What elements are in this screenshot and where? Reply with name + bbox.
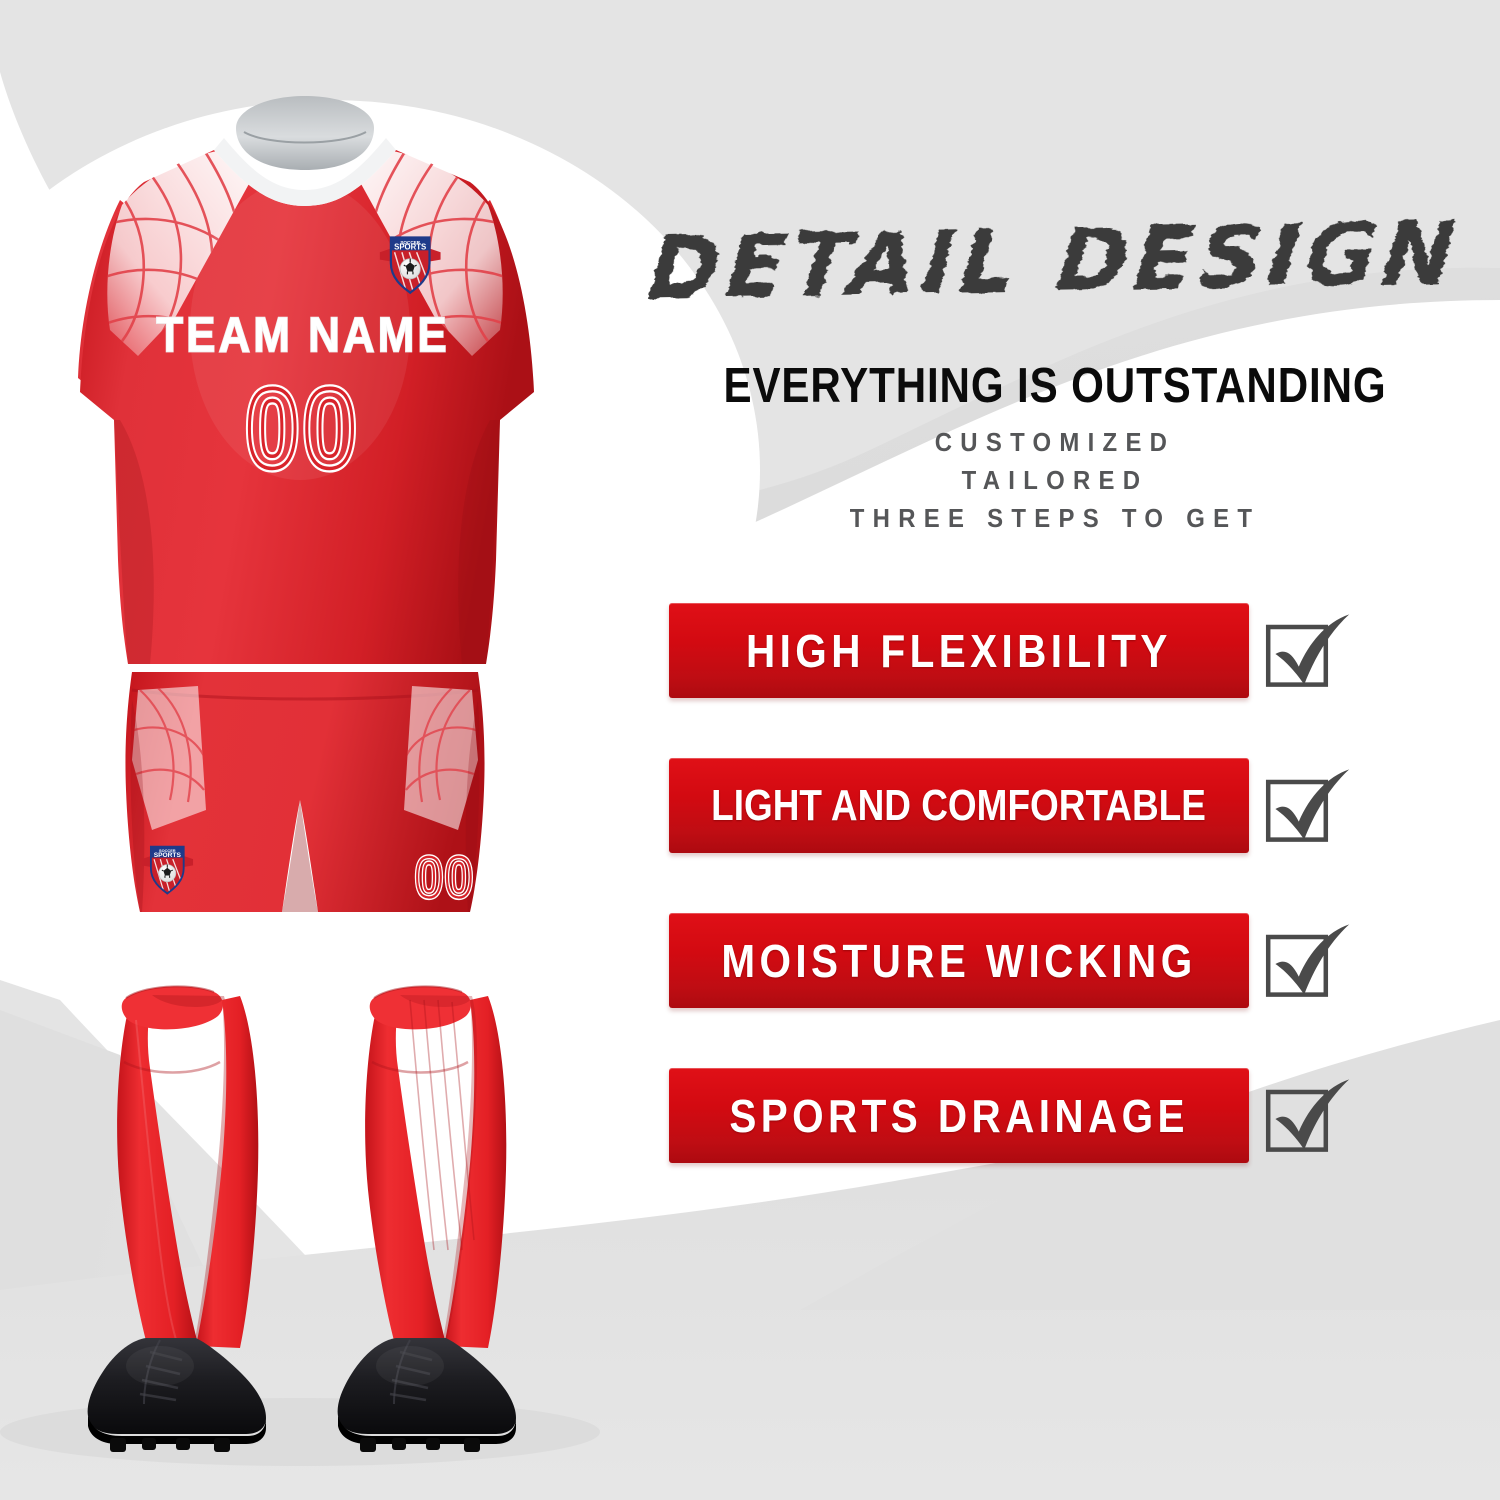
feature-bar-sports-drainage[interactable]: SPORTS DRAINAGE	[669, 1068, 1249, 1163]
socks	[117, 986, 506, 1348]
feature-label: SPORTS DRAINAGE	[729, 1089, 1189, 1143]
jersey-team-name: TEAM NAME	[156, 307, 449, 362]
feature-bar-high-flexibility[interactable]: HIGH FLEXIBILITY	[669, 603, 1249, 698]
soccer-boots	[88, 1338, 516, 1452]
page-subtitle: EVERYTHING IS OUTSTANDING	[672, 358, 1437, 414]
feature-list: HIGH FLEXIBILITY LIGHT AND COMFORTABLE	[610, 603, 1500, 1163]
info-panel: DETAIL DESIGN EVERYTHING IS OUTSTANDING …	[610, 0, 1500, 1500]
checkbox-sports-drainage[interactable]	[1261, 1074, 1351, 1164]
shorts: SOCCER SPORTS 00 00	[120, 670, 490, 912]
svg-text:SPORTS: SPORTS	[394, 242, 426, 251]
checkbox-light-and-comfortable[interactable]	[1261, 764, 1351, 854]
jersey: SOCCER SPORTS TEAM NAME 00 00	[70, 96, 540, 664]
tagline-list: CUSTOMIZED TAILORED THREE STEPS TO GET	[610, 423, 1500, 537]
title-block: DETAIL DESIGN EVERYTHING IS OUTSTANDING …	[610, 218, 1500, 330]
feature-row: MOISTURE WICKING	[610, 913, 1500, 1008]
feature-row: LIGHT AND COMFORTABLE	[610, 758, 1500, 853]
tagline-three-steps: THREE STEPS TO GET	[646, 499, 1465, 537]
feature-label: HIGH FLEXIBILITY	[746, 624, 1172, 678]
checkbox-high-flexibility[interactable]	[1261, 609, 1351, 699]
svg-text:00: 00	[415, 846, 475, 910]
feature-row: HIGH FLEXIBILITY	[610, 603, 1500, 698]
tagline-customized: CUSTOMIZED	[646, 423, 1465, 461]
feature-bar-light-and-comfortable[interactable]: LIGHT AND COMFORTABLE	[669, 758, 1249, 853]
poster-canvas: SOCCER SPORTS TEAM NAME 00 00	[0, 0, 1500, 1500]
tagline-tailored: TAILORED	[646, 461, 1465, 499]
headline-wrap: DETAIL DESIGN	[610, 218, 1500, 330]
svg-text:00: 00	[246, 366, 361, 492]
page-title: DETAIL DESIGN	[605, 209, 1500, 312]
feature-bar-moisture-wicking[interactable]: MOISTURE WICKING	[669, 913, 1249, 1008]
feature-label: LIGHT AND COMFORTABLE	[712, 781, 1207, 831]
product-photo: SOCCER SPORTS TEAM NAME 00 00	[0, 0, 610, 1500]
feature-row: SPORTS DRAINAGE	[610, 1068, 1500, 1163]
checkbox-moisture-wicking[interactable]	[1261, 919, 1351, 1009]
svg-text:SPORTS: SPORTS	[154, 852, 182, 859]
feature-label: MOISTURE WICKING	[721, 934, 1196, 988]
